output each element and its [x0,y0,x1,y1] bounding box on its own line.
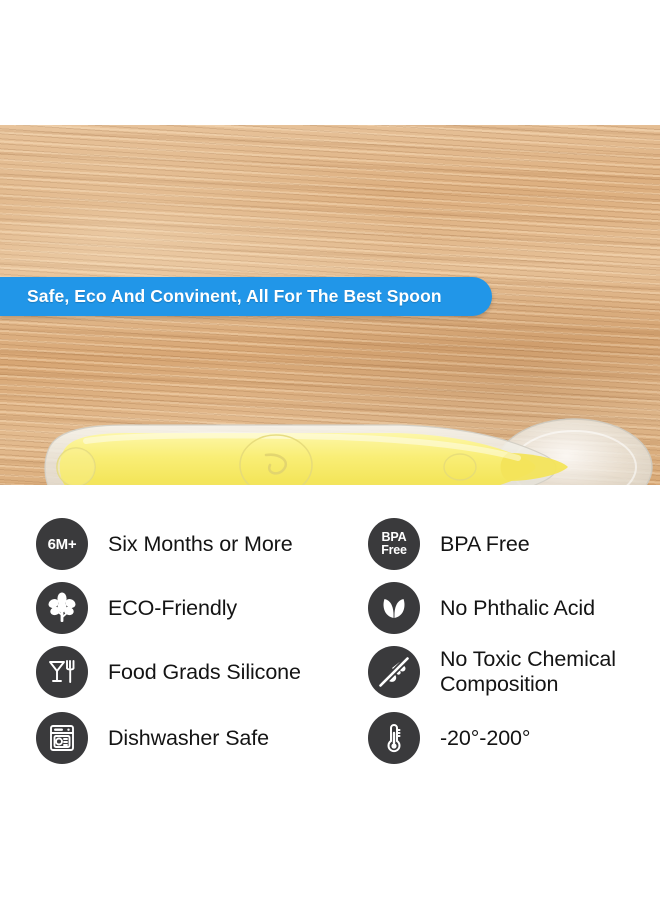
no-toxic-flask-icon [368,646,420,698]
feature-label: No Phthalic Acid [440,596,595,621]
feature-bpa-free: BPA Free BPA Free [368,518,653,570]
6m-plus-badge-text: 6M+ [48,537,77,552]
6m-plus-badge-icon: 6M+ [36,518,88,570]
feature-food-grade-silicone: Food Grads Silicone [36,646,356,698]
feature-label: BPA Free [440,532,530,557]
feature-no-toxic-chemical: No Toxic Chemical Composition [368,646,653,698]
glass-fork-icon [36,646,88,698]
feature-label: Dishwasher Safe [108,726,269,751]
feature-label: No Toxic Chemical Composition [440,647,616,697]
feature-list: 6M+ Six Months or More ECO-Friendly [0,496,660,806]
silicone-spoon-image [8,411,656,485]
feature-label: -20°-200° [440,726,530,751]
feature-temperature-range: -20°-200° [368,712,653,764]
thermometer-icon [368,712,420,764]
feature-label: ECO-Friendly [108,596,237,621]
dishwasher-icon [36,712,88,764]
feature-label: Food Grads Silicone [108,660,301,685]
feature-eco-friendly: ECO-Friendly [36,582,356,634]
bpa-free-badge-icon: BPA Free [368,518,420,570]
headline-banner: Safe, Eco And Convinent, All For The Bes… [0,277,492,316]
headline-banner-text: Safe, Eco And Convinent, All For The Bes… [0,286,442,307]
feature-six-months: 6M+ Six Months or More [36,518,356,570]
feature-dishwasher-safe: Dishwasher Safe [36,712,356,764]
feature-label: Six Months or More [108,532,293,557]
tree-icon [36,582,88,634]
feature-no-phthalic-acid: No Phthalic Acid [368,582,653,634]
bpa-free-badge-line2: Free [381,544,407,557]
product-photo: Safe, Eco And Convinent, All For The Bes… [0,125,660,485]
leaf-icon [368,582,420,634]
